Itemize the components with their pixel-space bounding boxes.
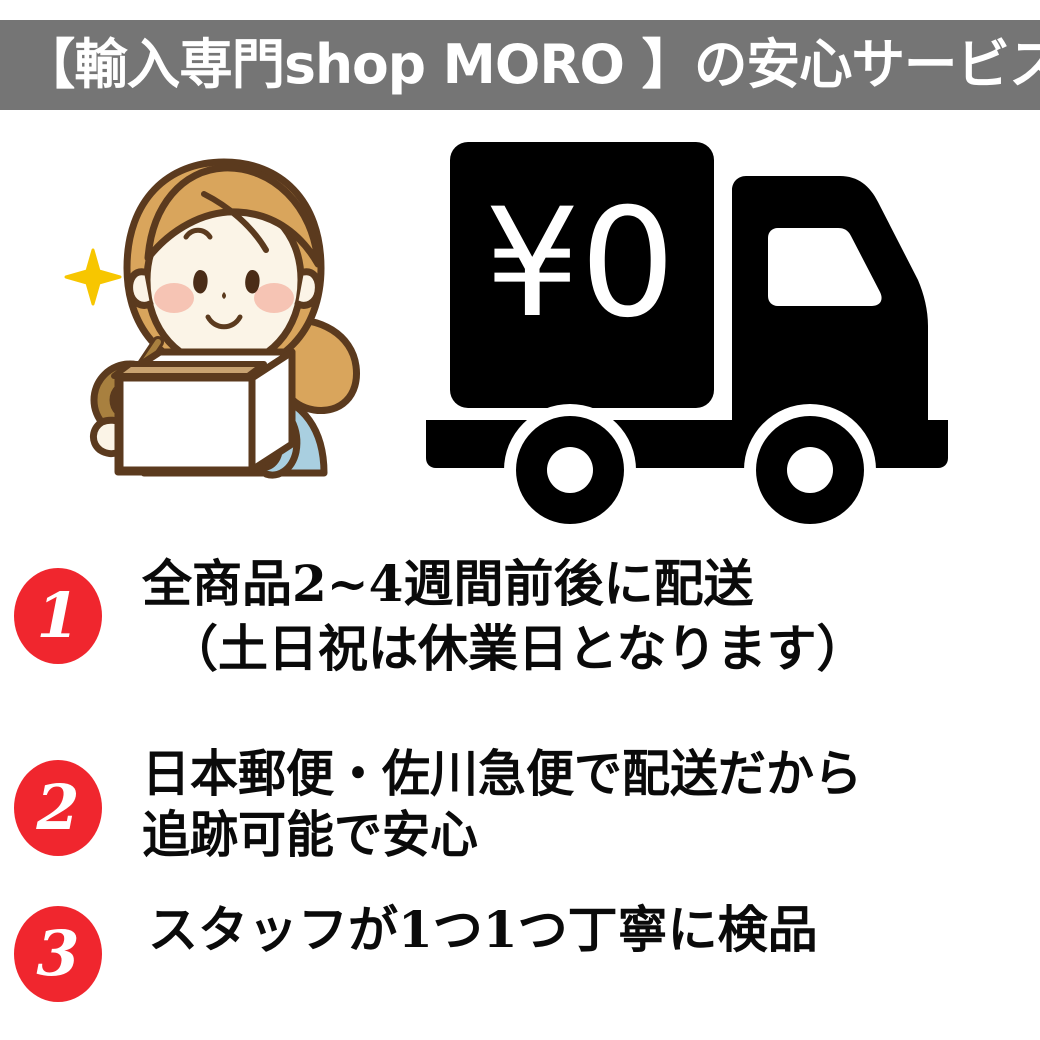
benefit-line: 日本郵便・佐川急便で配送だから bbox=[142, 746, 996, 801]
blush-right bbox=[254, 283, 294, 313]
benefit-text-1: 全商品2~4週間前後に配送 （土日祝は休業日となります） bbox=[142, 556, 1032, 676]
truck-cargo-label: ¥0 bbox=[485, 177, 676, 351]
banner-title: 【輸入専門shop MORO 】の安心サービス bbox=[0, 38, 1040, 92]
benefit-number-badge-2: 2 bbox=[14, 760, 102, 856]
benefit-list: 1 全商品2~4週間前後に配送 （土日祝は休業日となります） 2 日本郵便・佐川… bbox=[0, 548, 1040, 1040]
benefit-number-badge-1: 1 bbox=[14, 568, 102, 664]
benefit-text-2: 日本郵便・佐川急便で配送だから 追跡可能で安心 bbox=[142, 746, 1032, 862]
blush-left bbox=[154, 283, 194, 313]
benefit-line: （土日祝は休業日となります） bbox=[142, 621, 1032, 676]
header-banner: 【輸入専門shop MORO 】の安心サービス bbox=[0, 20, 1040, 110]
benefit-number-badge-3: 3 bbox=[14, 906, 102, 1002]
delivery-truck-illustration: ¥0 bbox=[420, 130, 1020, 530]
woman-inspecting-package-illustration bbox=[52, 140, 392, 530]
sparkle-icon bbox=[66, 250, 120, 304]
cardboard-box bbox=[120, 378, 252, 470]
benefit-line: 全商品2~4週間前後に配送 bbox=[142, 556, 1032, 611]
illustration-row: ¥0 bbox=[0, 120, 1040, 540]
benefit-line: 追跡可能で安心 bbox=[142, 807, 996, 862]
benefit-text-3: スタッフが1つ1つ丁寧に検品 bbox=[148, 902, 1038, 957]
benefit-line: スタッフが1つ1つ丁寧に検品 bbox=[148, 902, 1038, 957]
